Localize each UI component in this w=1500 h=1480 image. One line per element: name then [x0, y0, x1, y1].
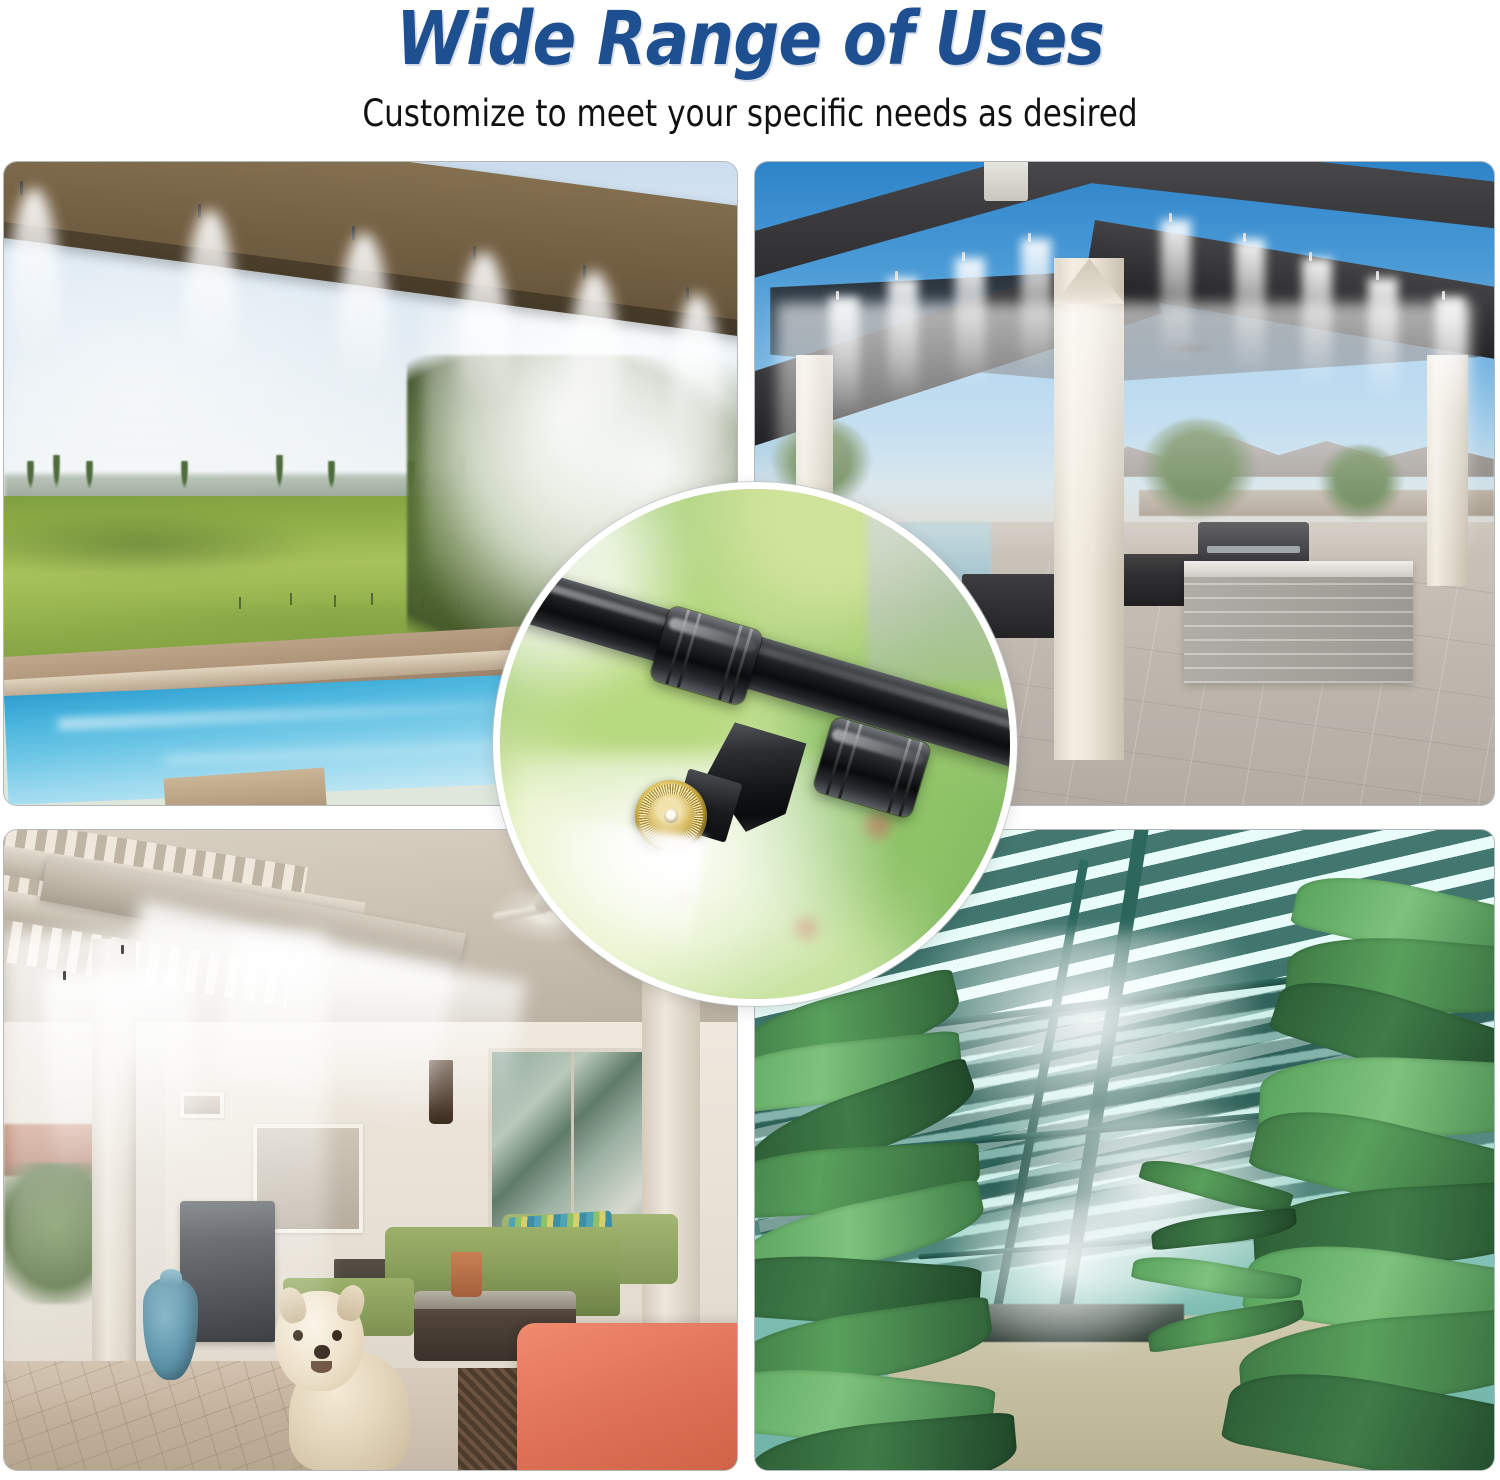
- terracotta-pot: [451, 1252, 482, 1297]
- product-feature-page: Wide Range of Uses Customize to meet you…: [0, 0, 1500, 1480]
- header: Wide Range of Uses Customize to meet you…: [0, 0, 1500, 152]
- mist-nozzle: [20, 181, 23, 195]
- palm-icon: [275, 455, 284, 493]
- patio-post: [642, 977, 701, 1374]
- palm-icon: [26, 461, 35, 493]
- misting-nozzle-closeup-inset[interactable]: [493, 482, 1017, 1006]
- fern-frond: [1146, 1299, 1306, 1354]
- mist-nozzle: [121, 945, 124, 954]
- palm-icon: [327, 461, 336, 493]
- fairway-stake: [290, 593, 292, 605]
- fern-plant: [1139, 1163, 1331, 1381]
- fairway-stake: [239, 597, 241, 609]
- background-structure: [867, 482, 1017, 683]
- dog-eye: [332, 1330, 342, 1341]
- palm-icon: [180, 461, 189, 493]
- page-title: Wide Range of Uses: [98, 0, 1403, 82]
- palm-icon: [85, 461, 94, 493]
- fern-plant: [755, 984, 1036, 1470]
- mist-veil: [4, 932, 327, 1406]
- coral-cushion: [517, 1323, 737, 1470]
- fairway-stake: [334, 595, 336, 607]
- palm-icon: [52, 455, 61, 494]
- fern-frond: [1130, 1248, 1302, 1307]
- fairway-stake: [371, 593, 373, 605]
- stone-kitchen-island: [1184, 561, 1413, 683]
- roof-light-fixture: [984, 162, 1028, 201]
- fern-frond: [1150, 1207, 1298, 1250]
- page-subtitle: Customize to meet your specific needs as…: [120, 92, 1380, 135]
- mist-spray: [539, 815, 706, 947]
- mist-nozzle: [63, 971, 66, 980]
